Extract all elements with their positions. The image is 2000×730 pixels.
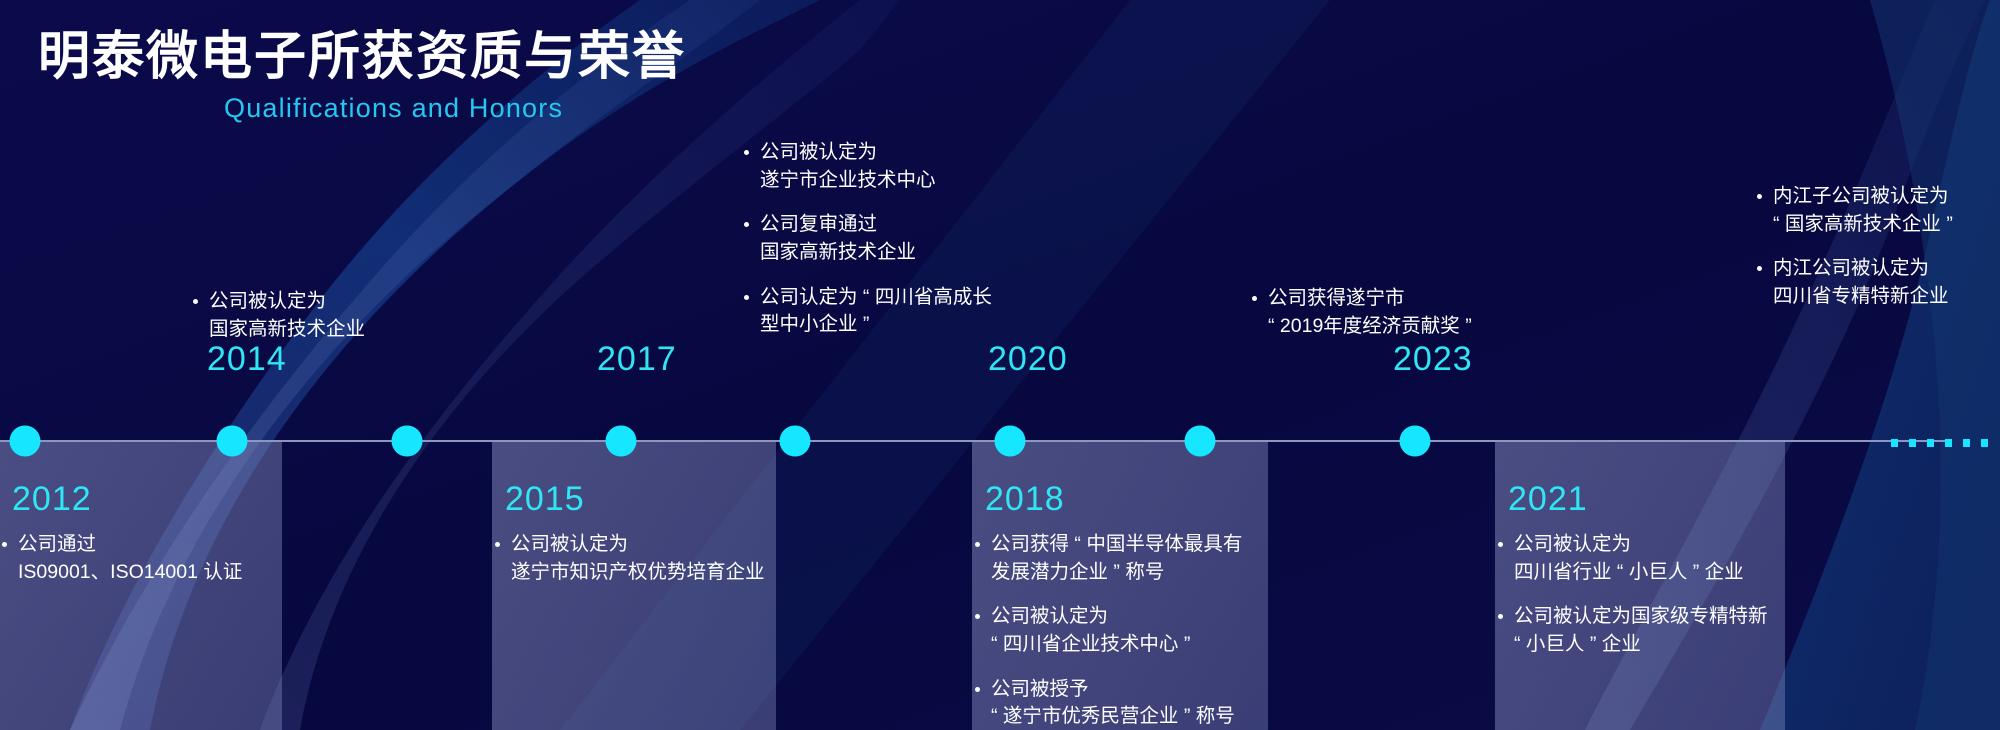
- bullet-dot-icon: [744, 222, 749, 227]
- bullet-dot-icon: [2, 542, 7, 547]
- milestone-text: 公司被认定为 四川省行业 “ 小巨人 ” 企业: [1514, 531, 1744, 586]
- timeline-node-2020[interactable]: [995, 426, 1026, 457]
- milestone-bullets-2021: 公司被认定为 四川省行业 “ 小巨人 ” 企业公司被认定为国家级专精特新 “ 小…: [1498, 531, 1808, 659]
- list-item: 公司获得遂宁市 “ 2019年度经济贡献奖 ”: [1252, 285, 1582, 340]
- timeline-node-2017[interactable]: [606, 426, 637, 457]
- year-label-2020: 2020: [988, 340, 1068, 379]
- bullet-dot-icon: [975, 614, 980, 619]
- timeline-node-2021[interactable]: [1185, 426, 1216, 457]
- list-item: 公司通过 IS09001、ISO14001 认证: [2, 531, 302, 586]
- list-item: 公司被认定为 四川省行业 “ 小巨人 ” 企业: [1498, 531, 1808, 586]
- axis-dash: [1909, 439, 1916, 447]
- list-item: 公司被认定为 遂宁市知识产权优势培育企业: [495, 531, 795, 586]
- bullet-dot-icon: [1757, 266, 1762, 271]
- year-label-2021: 2021: [1508, 480, 1588, 519]
- milestone-text: 公司被授予 “ 遂宁市优秀民营企业 ” 称号: [991, 676, 1235, 730]
- bullet-dot-icon: [1757, 194, 1762, 199]
- list-item: 内江子公司被认定为 “ 国家高新技术企业 ”: [1757, 183, 2000, 238]
- bullet-dot-icon: [1498, 542, 1503, 547]
- timeline-axis: [0, 440, 1947, 442]
- axis-dash: [1981, 439, 1988, 447]
- milestone-bullets-2015: 公司被认定为 遂宁市知识产权优势培育企业: [495, 531, 795, 586]
- year-label-2012: 2012: [12, 480, 92, 519]
- timeline-node-2012[interactable]: [10, 426, 41, 457]
- milestone-text: 公司获得遂宁市 “ 2019年度经济贡献奖 ”: [1268, 285, 1472, 340]
- page-subtitle: Qualifications and Honors: [224, 93, 686, 124]
- list-item: 公司认定为 “ 四川省高成长 型中小企业 ”: [744, 284, 1074, 339]
- milestone-bullets-2020: 公司获得遂宁市 “ 2019年度经济贡献奖 ”: [1252, 285, 1582, 340]
- axis-dash: [1963, 439, 1970, 447]
- milestone-text: 公司被认定为 遂宁市知识产权优势培育企业: [511, 531, 765, 586]
- year-label-2017: 2017: [597, 340, 677, 379]
- milestone-bullets-2017: 公司被认定为 遂宁市企业技术中心公司复审通过 国家高新技术企业公司认定为 “ 四…: [744, 139, 1074, 339]
- milestone-bullets-2012: 公司通过 IS09001、ISO14001 认证: [2, 531, 302, 586]
- list-item: 公司获得 “ 中国半导体最具有 发展潜力企业 ” 称号: [975, 531, 1275, 586]
- list-item: 公司被认定为 国家高新技术企业: [193, 288, 513, 343]
- milestone-bullets-2023: 内江子公司被认定为 “ 国家高新技术企业 ”内江公司被认定为 四川省专精特新企业: [1757, 183, 2000, 311]
- milestone-text: 公司获得 “ 中国半导体最具有 发展潜力企业 ” 称号: [991, 531, 1242, 586]
- axis-dash: [1891, 439, 1898, 447]
- timeline-node-2018[interactable]: [780, 426, 811, 457]
- milestone-text: 公司被认定为国家级专精特新 “ 小巨人 ” 企业: [1514, 603, 1768, 658]
- bullet-dot-icon: [744, 295, 749, 300]
- slide-canvas: 明泰微电子所获资质与荣誉 Qualifications and Honors 2…: [0, 0, 2000, 730]
- timeline-node-2023[interactable]: [1400, 426, 1431, 457]
- list-item: 内江公司被认定为 四川省专精特新企业: [1757, 255, 2000, 310]
- milestone-text: 内江子公司被认定为 “ 国家高新技术企业 ”: [1773, 183, 1953, 238]
- milestone-text: 公司复审通过 国家高新技术企业: [760, 211, 916, 266]
- milestone-text: 公司通过 IS09001、ISO14001 认证: [18, 531, 242, 586]
- bullet-dot-icon: [975, 687, 980, 692]
- milestone-text: 公司被认定为 国家高新技术企业: [209, 288, 365, 343]
- list-item: 公司被认定为 遂宁市企业技术中心: [744, 139, 1074, 194]
- bullet-dot-icon: [495, 542, 500, 547]
- header: 明泰微电子所获资质与荣誉 Qualifications and Honors: [38, 30, 686, 124]
- list-item: 公司复审通过 国家高新技术企业: [744, 211, 1074, 266]
- year-label-2018: 2018: [985, 480, 1065, 519]
- bullet-dot-icon: [1498, 614, 1503, 619]
- axis-dash: [1927, 439, 1934, 447]
- list-item: 公司被认定为 “ 四川省企业技术中心 ”: [975, 603, 1275, 658]
- milestone-text: 公司被认定为 “ 四川省企业技术中心 ”: [991, 603, 1190, 658]
- list-item: 公司被授予 “ 遂宁市优秀民营企业 ” 称号: [975, 676, 1275, 730]
- bullet-dot-icon: [193, 299, 198, 304]
- timeline-node-2015[interactable]: [392, 426, 423, 457]
- axis-dash: [1945, 439, 1952, 447]
- year-label-2023: 2023: [1393, 340, 1473, 379]
- milestone-bullets-2014: 公司被认定为 国家高新技术企业: [193, 288, 513, 343]
- milestone-text: 内江公司被认定为 四川省专精特新企业: [1773, 255, 1949, 310]
- page-title: 明泰微电子所获资质与荣誉: [38, 30, 686, 85]
- timeline-node-2014[interactable]: [217, 426, 248, 457]
- year-label-2015: 2015: [505, 480, 585, 519]
- year-label-2014: 2014: [207, 340, 287, 379]
- bullet-dot-icon: [744, 150, 749, 155]
- bullet-dot-icon: [975, 542, 980, 547]
- milestone-text: 公司认定为 “ 四川省高成长 型中小企业 ”: [760, 284, 992, 339]
- milestone-text: 公司被认定为 遂宁市企业技术中心: [760, 139, 936, 194]
- list-item: 公司被认定为国家级专精特新 “ 小巨人 ” 企业: [1498, 603, 1808, 658]
- bullet-dot-icon: [1252, 296, 1257, 301]
- milestone-bullets-2018: 公司获得 “ 中国半导体最具有 发展潜力企业 ” 称号公司被认定为 “ 四川省企…: [975, 531, 1275, 730]
